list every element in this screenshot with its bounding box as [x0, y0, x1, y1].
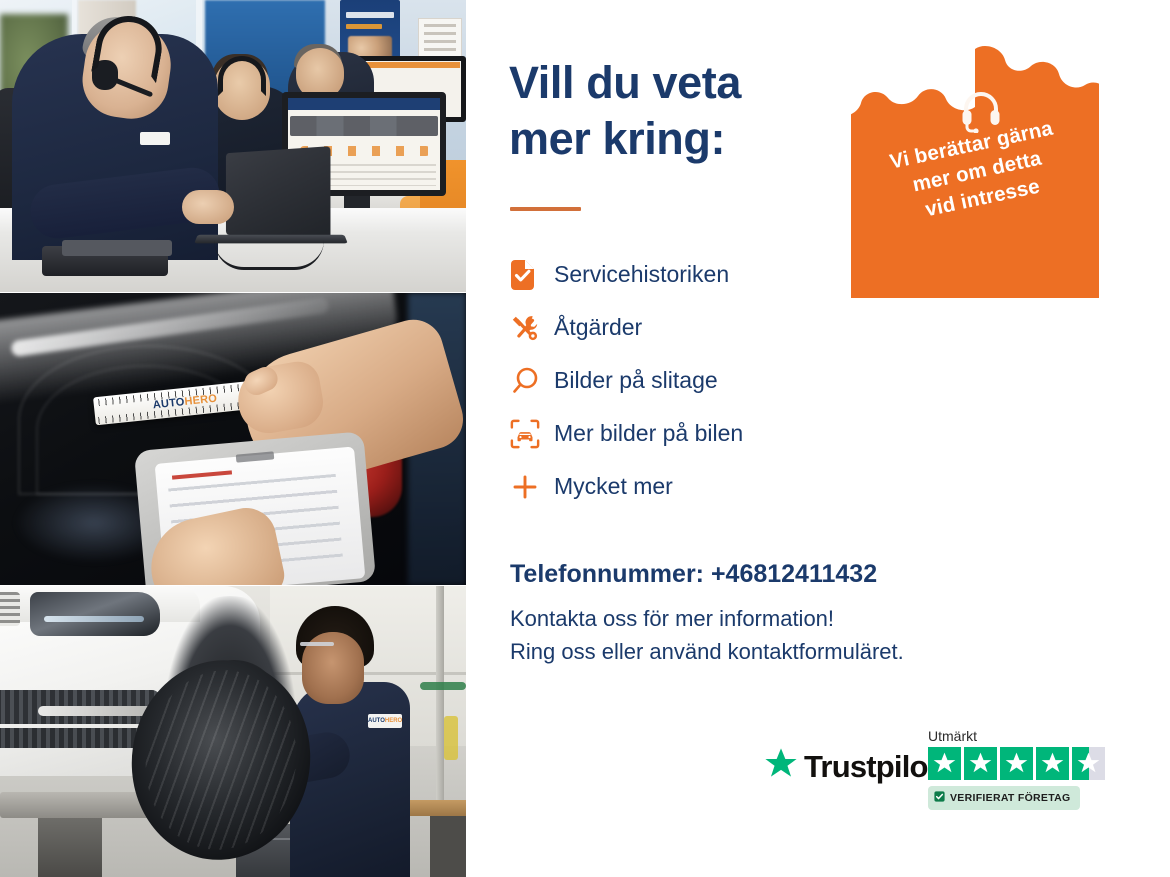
content-panel: Vill du veta mer kring: Servicehistorike…: [466, 0, 1170, 877]
car-scan-icon: [510, 419, 554, 449]
page-title: Vill du veta mer kring:: [509, 55, 869, 167]
callout-badge: Vi berättar gärna mer om detta vid intre…: [851, 43, 1099, 298]
feature-label: Mer bilder på bilen: [554, 420, 743, 447]
star-2: [964, 747, 997, 780]
document-check-icon: [510, 260, 554, 290]
contact-text-line-2: Ring oss eller använd kontaktformuläret.: [510, 639, 904, 665]
verified-label: VERIFIERAT FÖRETAG: [950, 792, 1071, 804]
trustpilot-widget[interactable]: Trustpilot Utmärkt: [763, 728, 1133, 818]
trustpilot-wordmark: Trustpilot: [804, 749, 937, 785]
magnifier-icon: [510, 366, 554, 396]
trustpilot-rating: Utmärkt: [928, 728, 1105, 810]
call-center-photo: [0, 0, 466, 292]
verified-badge: VERIFIERAT FÖRETAG: [928, 786, 1080, 810]
star-4: [1036, 747, 1069, 780]
feature-label: Mycket mer: [554, 473, 673, 500]
promo-page: AUTOHERO: [0, 0, 1170, 877]
trustpilot-star-icon: [763, 746, 799, 787]
feature-label: Bilder på slitage: [554, 367, 718, 394]
autohero-shirt-logo: AUTOHERO: [368, 714, 402, 728]
star-1: [928, 747, 961, 780]
feature-label: Servicehistoriken: [554, 261, 729, 288]
inspection-photo: AUTOHERO: [0, 293, 466, 585]
feature-item-atgarder: Åtgärder: [510, 301, 930, 354]
workshop-photo: AUTOHERO: [0, 586, 466, 877]
tools-icon: [510, 313, 554, 343]
trustpilot-logo: Trustpilot: [763, 746, 937, 787]
star-rating: [928, 747, 1105, 780]
feature-item-mycket-mer: Mycket mer: [510, 460, 930, 513]
contact-text-line-1: Kontakta oss för mer information!: [510, 606, 834, 632]
headline-line-2: mer kring:: [509, 113, 725, 164]
star-5-half: [1072, 747, 1105, 780]
photo-column: AUTOHERO: [0, 0, 466, 877]
feature-item-mer-bilder-pa-bilen: Mer bilder på bilen: [510, 407, 930, 460]
title-divider: [510, 207, 581, 211]
headline-line-1: Vill du veta: [509, 57, 741, 108]
plus-icon: [510, 472, 554, 502]
star-3: [1000, 747, 1033, 780]
phone-number-line[interactable]: Telefonnummer: +46812411432: [510, 560, 877, 589]
rating-label: Utmärkt: [928, 728, 1105, 744]
feature-item-bilder-pa-slitage: Bilder på slitage: [510, 354, 930, 407]
feature-label: Åtgärder: [554, 314, 642, 341]
verified-check-icon: [934, 789, 945, 807]
